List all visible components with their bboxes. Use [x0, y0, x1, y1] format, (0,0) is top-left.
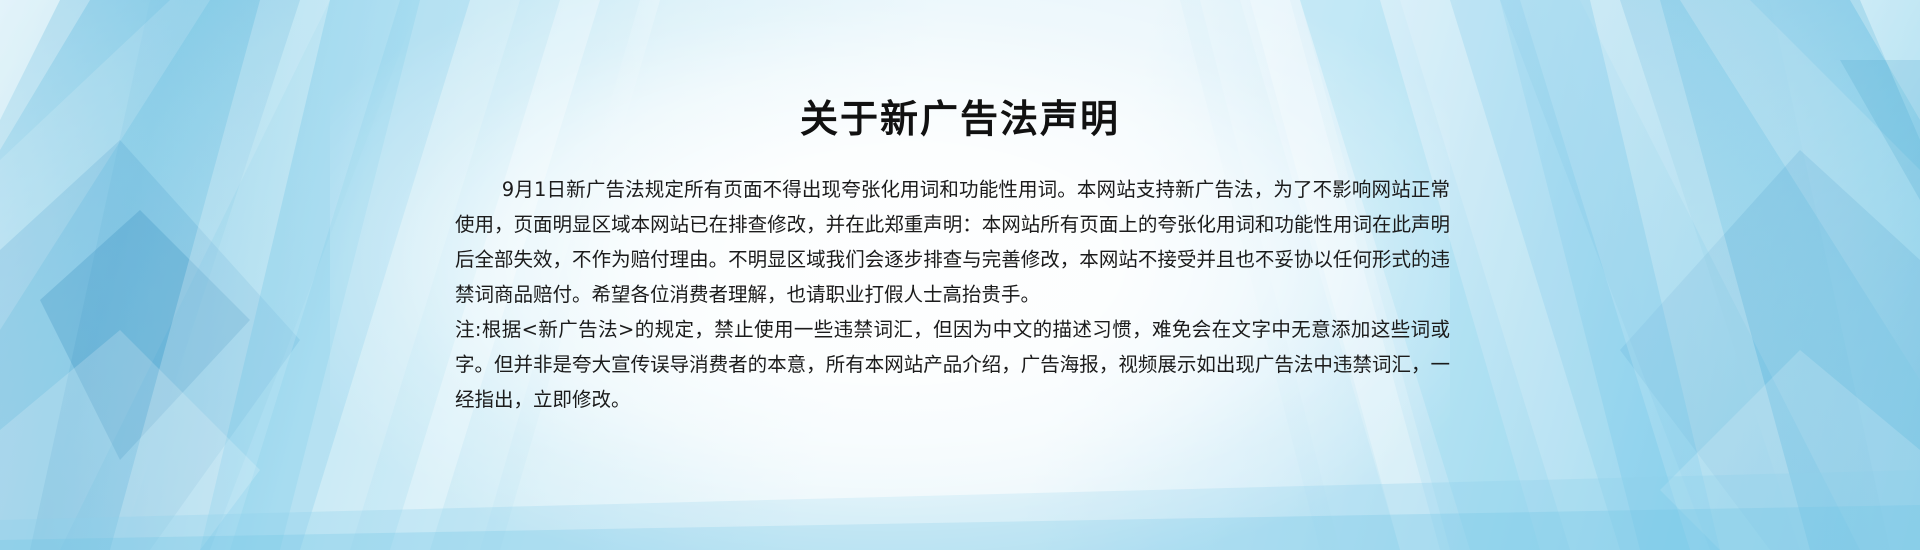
statement-paragraph-2: 注:根据<新广告法>的规定，禁止使用一些违禁词汇，但因为中文的描述习惯，难免会在… [455, 312, 1450, 417]
statement-body: 9月1日新广告法规定所有页面不得出现夸张化用词和功能性用词。本网站支持新广告法，… [455, 172, 1450, 417]
statement-content: 关于新广告法声明 9月1日新广告法规定所有页面不得出现夸张化用词和功能性用词。本… [0, 0, 1920, 550]
statement-paragraph-1: 9月1日新广告法规定所有页面不得出现夸张化用词和功能性用词。本网站支持新广告法，… [455, 172, 1450, 312]
page-title: 关于新广告法声明 [0, 88, 1920, 143]
advertising-law-statement-banner: 关于新广告法声明 9月1日新广告法规定所有页面不得出现夸张化用词和功能性用词。本… [0, 0, 1920, 550]
